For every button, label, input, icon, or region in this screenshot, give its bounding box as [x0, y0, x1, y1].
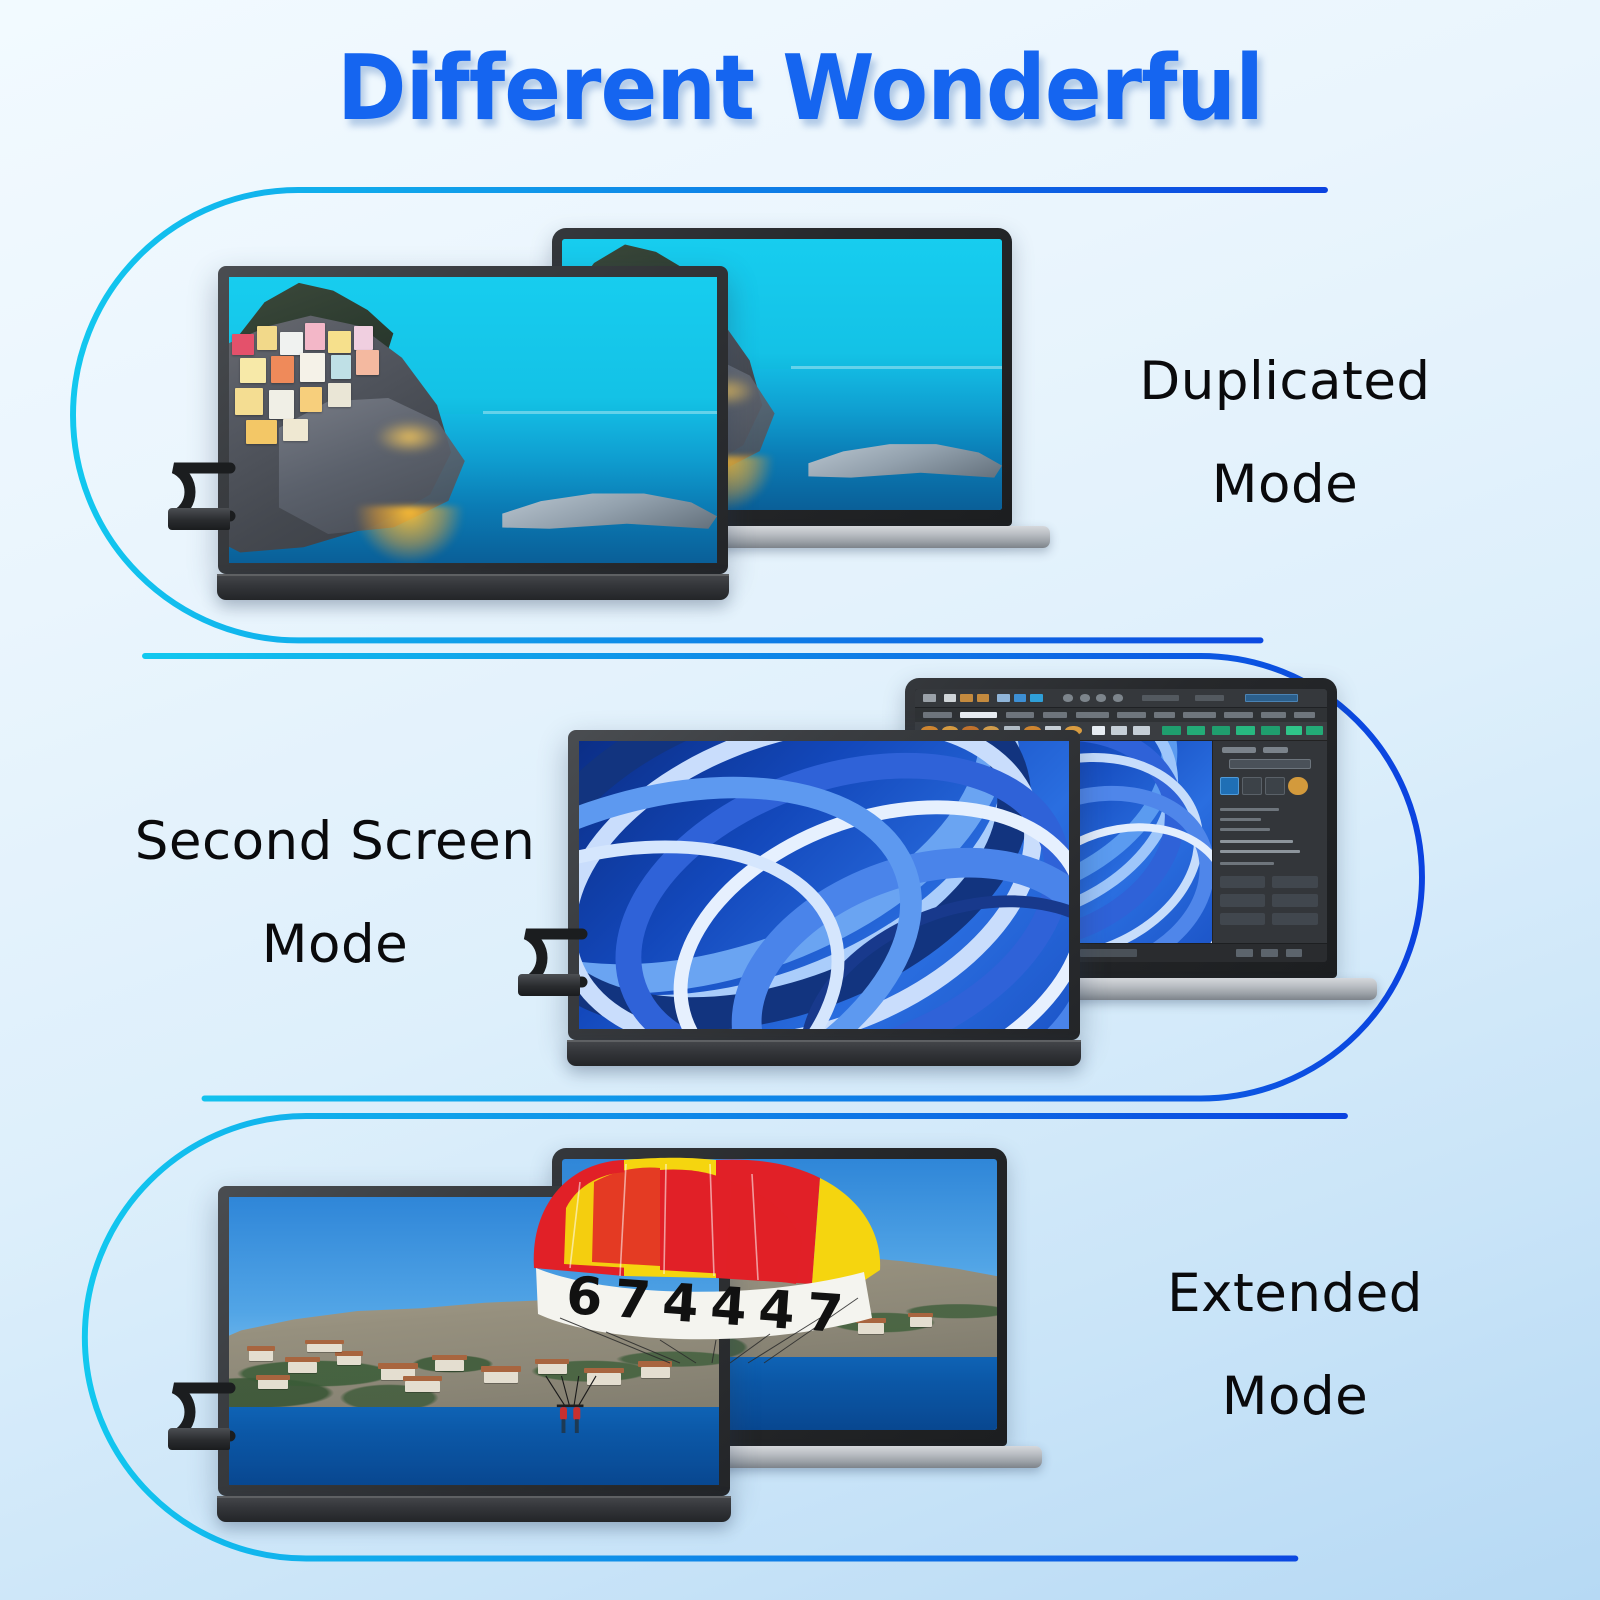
village-houses — [229, 311, 512, 471]
screen-content-manarola — [229, 277, 717, 563]
parasailers — [538, 1376, 616, 1462]
monitor-bezel — [218, 266, 728, 574]
monitor-screen — [579, 741, 1069, 1029]
label-second-screen-line1: Second Screen — [110, 790, 560, 893]
portable-monitor — [218, 1186, 730, 1496]
coastal-villas — [229, 1329, 719, 1410]
usb-c-connector — [168, 508, 230, 530]
monitor-screen — [229, 277, 717, 563]
monitor-bezel — [568, 730, 1080, 1040]
monitor-base — [217, 574, 729, 600]
label-duplicated-line2: Mode — [1090, 433, 1480, 536]
monitor-base — [567, 1040, 1081, 1066]
label-duplicated-mode: Duplicated Mode — [1090, 330, 1480, 537]
cad-properties-panel — [1212, 741, 1327, 943]
usb-c-connector — [168, 1428, 230, 1450]
page-title: Different Wonderful — [56, 36, 1544, 141]
label-duplicated-line1: Duplicated — [1090, 330, 1480, 433]
portable-monitor — [568, 730, 1080, 1040]
monitor-bezel — [218, 1186, 730, 1496]
screen-content-bloom-wallpaper — [579, 741, 1069, 1029]
usb-c-connector — [518, 974, 580, 996]
label-extended-mode: Extended Mode — [1100, 1242, 1490, 1449]
cad-tab-bar — [915, 708, 1327, 722]
portable-monitor — [218, 266, 728, 574]
cad-menu-bar — [915, 689, 1327, 708]
monitor-base — [217, 1496, 731, 1522]
label-extended-line1: Extended — [1100, 1242, 1490, 1345]
monitor-screen — [229, 1197, 719, 1485]
screen-content-parasailing — [229, 1197, 719, 1485]
label-extended-line2: Mode — [1100, 1345, 1490, 1448]
